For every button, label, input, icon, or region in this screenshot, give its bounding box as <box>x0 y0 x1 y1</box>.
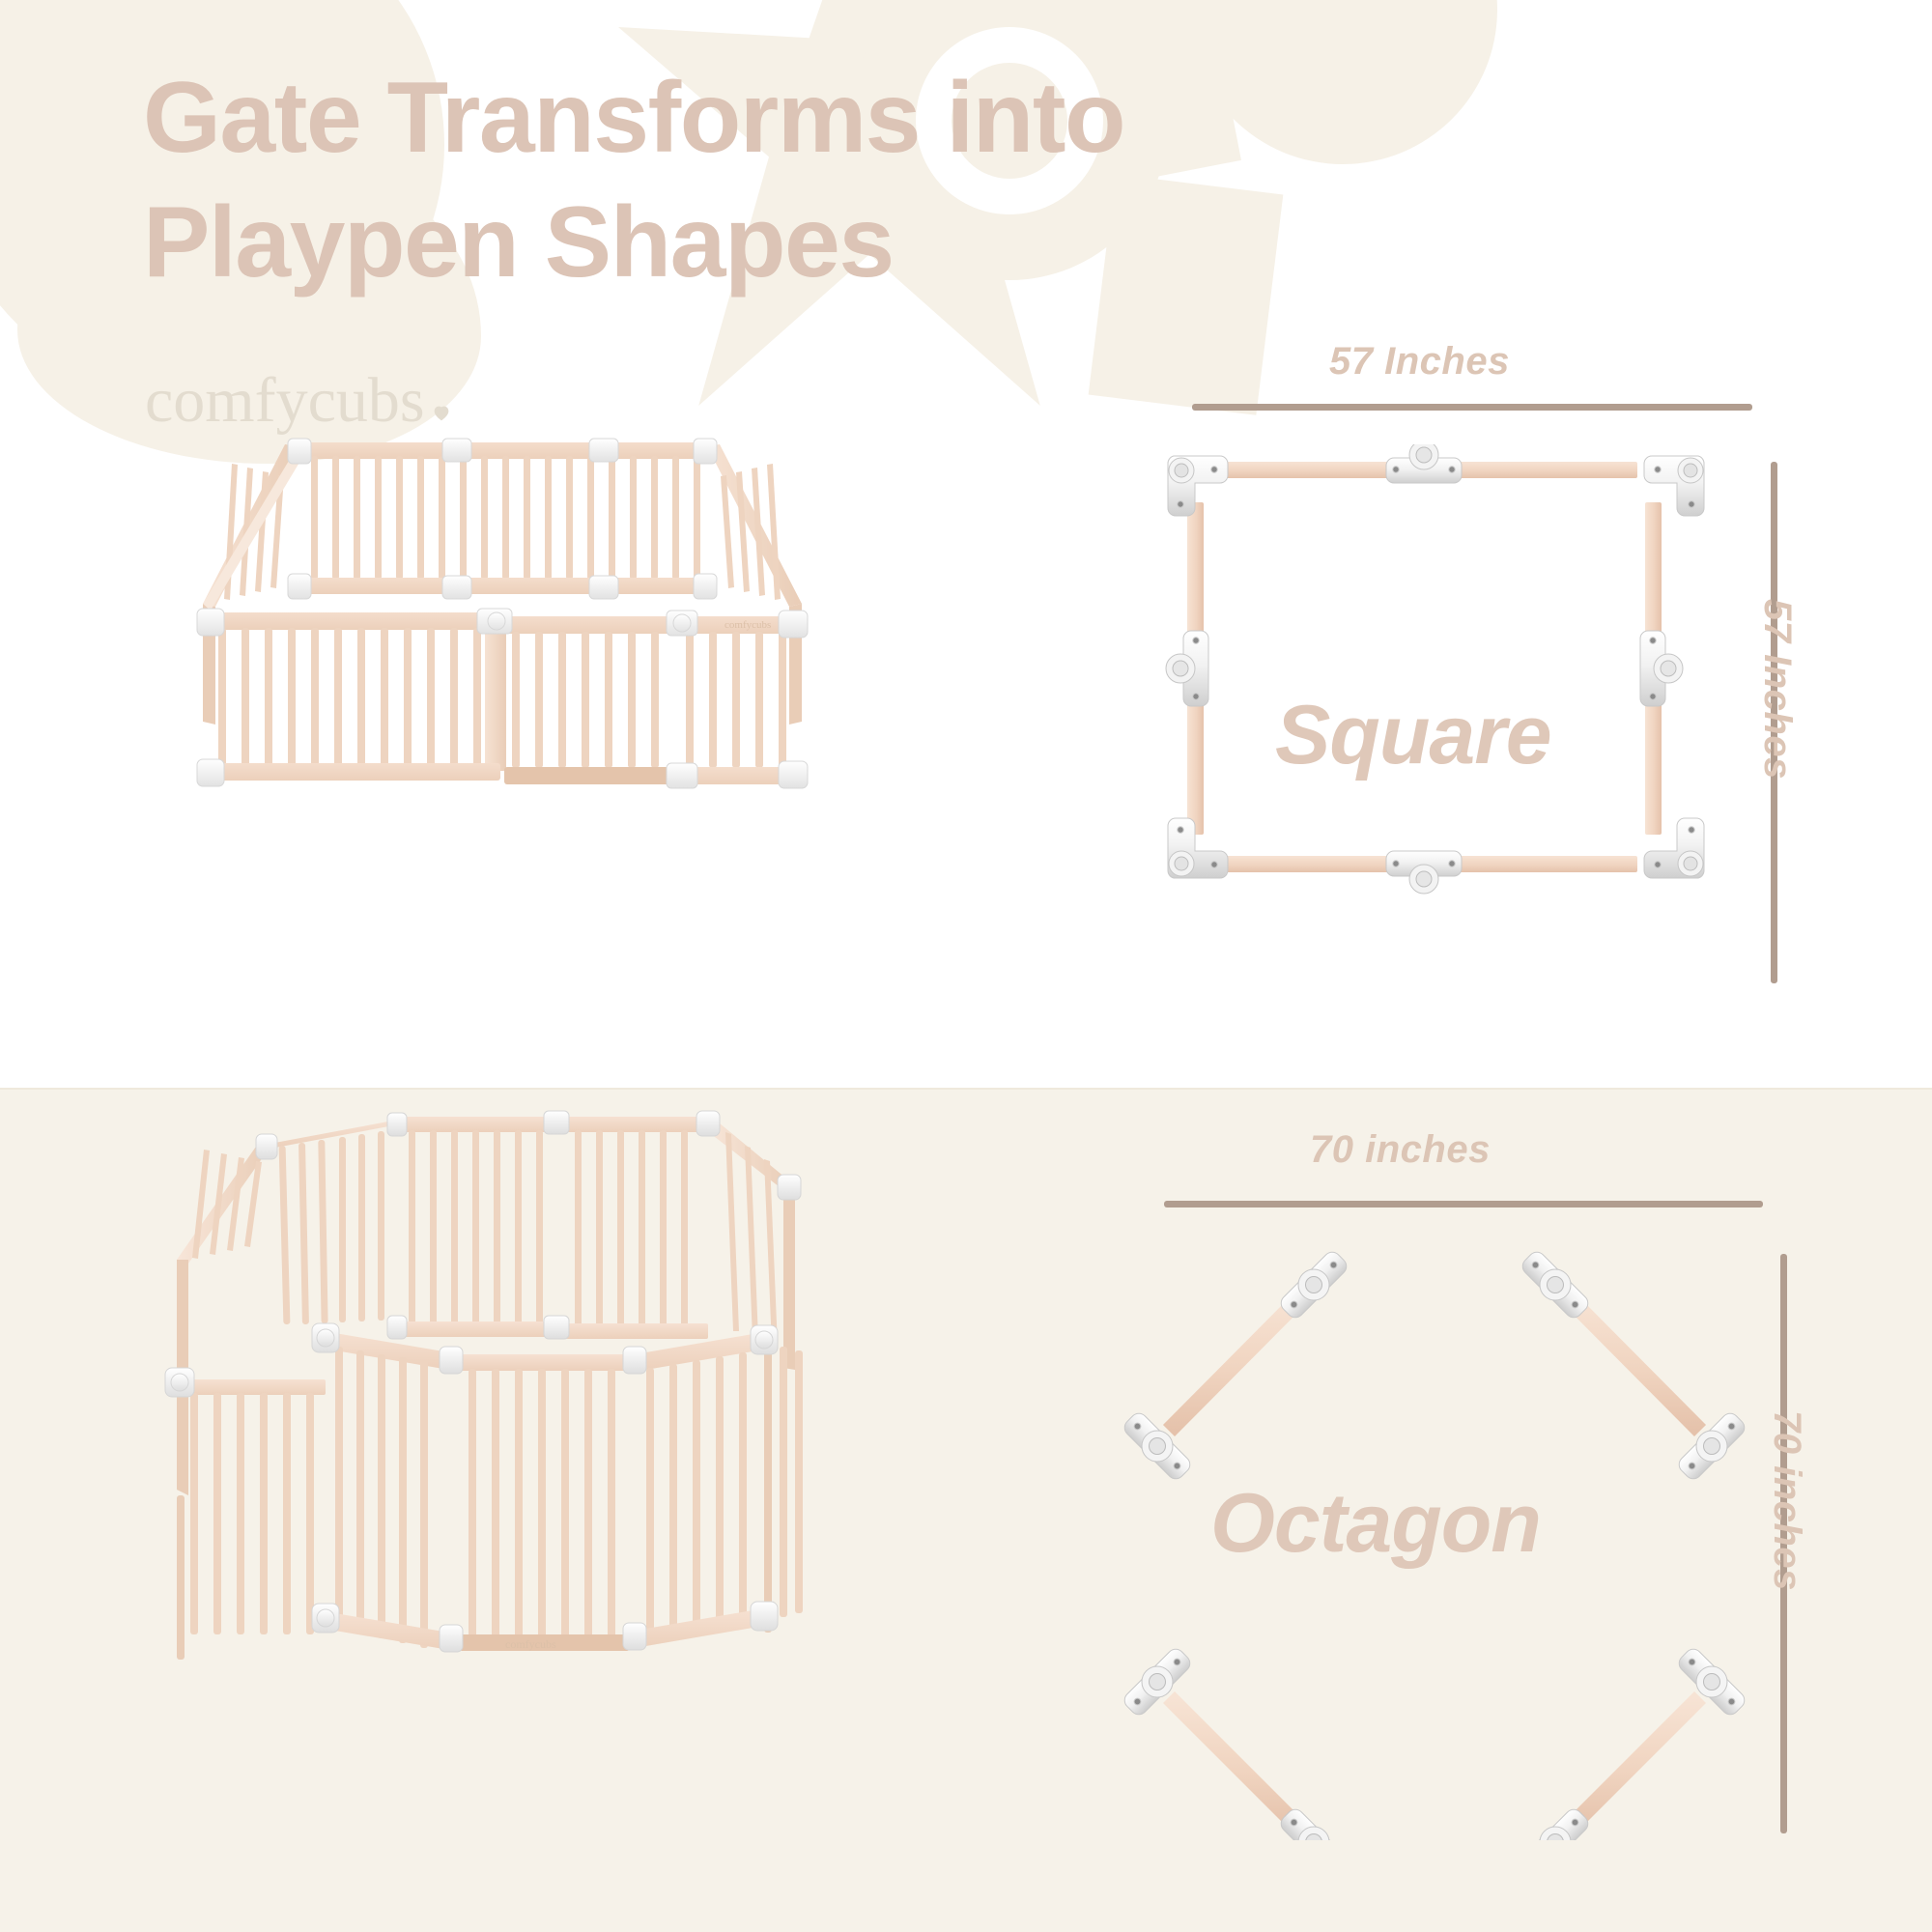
square-shape-diagram <box>1154 444 1734 913</box>
square-height-label: 57 Inches <box>1755 599 1799 780</box>
octagon-width-label: 70 inches <box>1310 1128 1491 1172</box>
square-shape-name: Square <box>1275 688 1551 783</box>
infographic-canvas: Gate Transforms into Playpen Shapes comf… <box>0 0 1932 1932</box>
octagon-shape-name: Octagon <box>1210 1476 1541 1572</box>
square-width-measure-line <box>1192 404 1752 411</box>
svg-text:comfycubs: comfycubs <box>724 619 771 631</box>
octagon-height-label: 70 inches <box>1765 1410 1808 1591</box>
square-width-label: 57 Inches <box>1329 340 1510 384</box>
svg-text:comfycubs: comfycubs <box>505 1637 556 1651</box>
page-title: Gate Transforms into Playpen Shapes <box>143 56 1350 305</box>
octagon-width-measure-line <box>1164 1201 1763 1207</box>
top-section: Gate Transforms into Playpen Shapes comf… <box>0 0 1932 1090</box>
bottom-section: comfycubs <box>0 1090 1932 1932</box>
brand-logo-text: comfycubs <box>145 369 425 433</box>
rectangular-playpen-photo: comfycubs <box>184 435 821 826</box>
brand-logo: comfycubs <box>145 369 452 433</box>
octagonal-playpen-photo: comfycubs <box>150 1090 816 1674</box>
heart-icon <box>431 402 452 423</box>
